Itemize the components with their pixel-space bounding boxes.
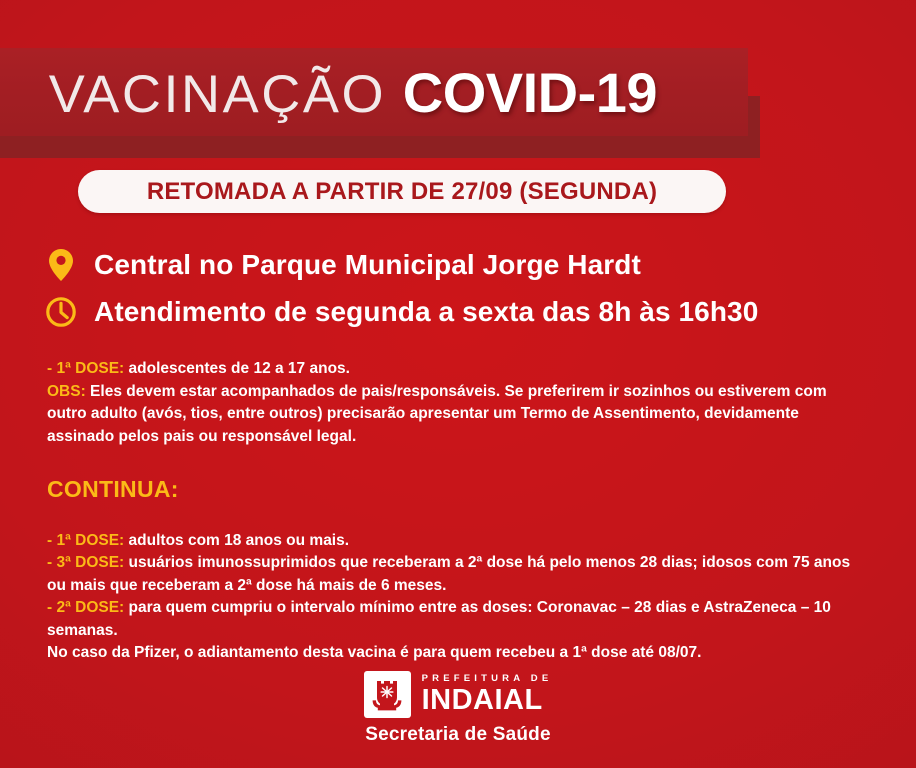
footer: PREFEITURA DE INDAIAL Secretaria de Saúd… xyxy=(0,671,916,746)
obs-text: Eles devem estar acompanhados de pais/re… xyxy=(47,383,827,445)
list-item: No caso da Pfizer, o adiantamento desta … xyxy=(47,642,867,665)
continua-heading: CONTINUA: xyxy=(47,478,867,501)
list-item: - 3ª DOSE: usuários imunossuprimidos que… xyxy=(47,552,867,597)
info-row-location: Central no Parque Municipal Jorge Hardt xyxy=(44,243,884,287)
info-row-hours: Atendimento de segunda a sexta das 8h às… xyxy=(44,290,884,334)
info-hours-text: Atendimento de segunda a sexta das 8h às… xyxy=(94,296,758,328)
prefeitura-logo: PREFEITURA DE INDAIAL xyxy=(364,671,553,718)
map-pin-icon xyxy=(44,248,78,282)
header-title-group: VACINAÇÃO COVID-19 xyxy=(0,60,657,125)
indaial-coat-of-arms-icon xyxy=(364,671,411,718)
dose-label: - 2ª DOSE: xyxy=(47,599,124,616)
dose-text: para quem cumpriu o intervalo mínimo ent… xyxy=(47,599,831,639)
dose-text: No caso da Pfizer, o adiantamento desta … xyxy=(47,644,701,661)
dose-label: - 1ª DOSE: xyxy=(47,532,124,549)
retomada-pill-label: RETOMADA A PARTIR DE 27/09 (SEGUNDA) xyxy=(147,178,657,206)
footer-department-label: Secretaria de Saúde xyxy=(365,724,550,746)
body-content: - 1ª DOSE: adolescentes de 12 a 17 anos.… xyxy=(47,358,867,665)
list-item: - 1ª DOSE: adultos com 18 anos ou mais. xyxy=(47,530,867,553)
page-title-thin: VACINAÇÃO xyxy=(49,64,386,125)
banner-drop-shadow xyxy=(0,134,760,158)
retomada-pill-badge: RETOMADA A PARTIR DE 27/09 (SEGUNDA) xyxy=(78,170,726,213)
obs-label: OBS: xyxy=(47,383,86,400)
list-item: - 2ª DOSE: para quem cumpriu o intervalo… xyxy=(47,597,867,642)
dose-label: - 3ª DOSE: xyxy=(47,554,124,571)
page-title-bold: COVID-19 xyxy=(403,60,657,125)
prefeitura-city-name: INDAIAL xyxy=(422,686,553,715)
prefeitura-wordmark: PREFEITURA DE INDAIAL xyxy=(422,674,553,716)
clock-icon xyxy=(44,296,78,328)
info-list: Central no Parque Municipal Jorge Hardt … xyxy=(44,243,884,334)
obs-paragraph: OBS: Eles devem estar acompanhados de pa… xyxy=(47,381,867,449)
continua-block: CONTINUA: xyxy=(47,478,867,501)
header-banner: VACINAÇÃO COVID-19 xyxy=(0,48,748,136)
prefeitura-kicker: PREFEITURA DE xyxy=(422,674,553,684)
info-location-text: Central no Parque Municipal Jorge Hardt xyxy=(94,249,641,281)
dose-text: adultos com 18 anos ou mais. xyxy=(124,532,349,549)
continua-item-list: - 1ª DOSE: adultos com 18 anos ou mais. … xyxy=(47,530,867,665)
first-dose-text: adolescentes de 12 a 17 anos. xyxy=(124,360,350,377)
first-dose-label: - 1ª DOSE: xyxy=(47,360,124,377)
poster-canvas: VACINAÇÃO COVID-19 RETOMADA A PARTIR DE … xyxy=(0,0,916,768)
first-dose-line: - 1ª DOSE: adolescentes de 12 a 17 anos. xyxy=(47,358,867,381)
dose-text: usuários imunossuprimidos que receberam … xyxy=(47,554,850,594)
